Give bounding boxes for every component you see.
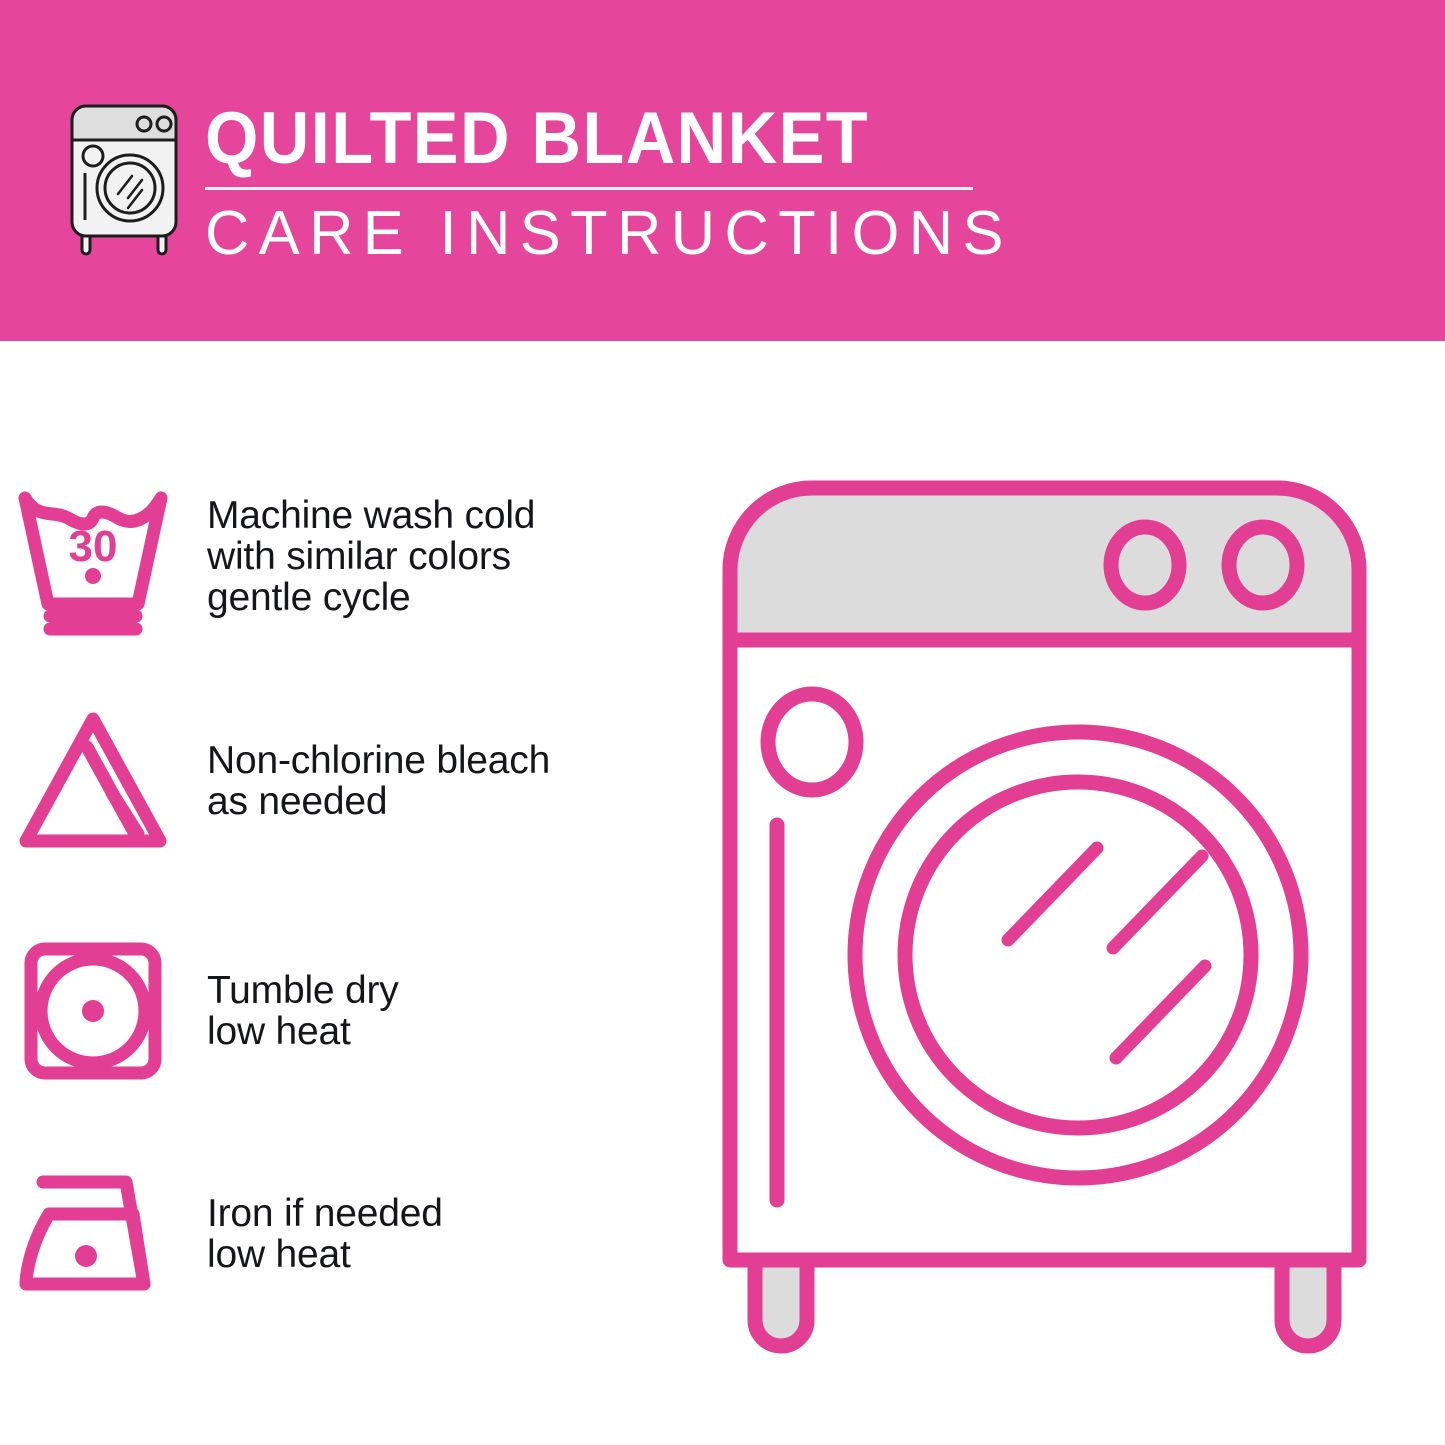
list-item-label: Machine wash cold with similar colors ge… (185, 495, 535, 618)
leg-left (755, 1260, 807, 1346)
list-item: 30 Machine wash cold with similar colors… (0, 466, 700, 646)
instruction-list: 30 Machine wash cold with similar colors… (0, 341, 700, 1445)
list-item-label: Non-chlorine bleach as needed (185, 740, 550, 822)
list-item: Tumble dry low heat (0, 921, 700, 1101)
washing-machine-icon (58, 98, 190, 258)
page-title: QUILTED BLANKET (205, 100, 948, 178)
header-title-block: QUILTED BLANKET CARE INSTRUCTIONS (205, 100, 995, 268)
list-item-label: Iron if needed low heat (185, 1193, 443, 1275)
front-load-washing-machine-illustration (712, 470, 1412, 1370)
wash-tub-30-icon: 30 (0, 476, 185, 636)
list-item: Non-chlorine bleach as needed (0, 693, 700, 868)
leg-right (1282, 1260, 1334, 1346)
bleach-triangle-icon (0, 701, 185, 861)
care-instructions-page: QUILTED BLANKET CARE INSTRUCTIONS 30 (0, 0, 1445, 1445)
list-item: Iron if needed low heat (0, 1146, 700, 1321)
page-subtitle: CARE INSTRUCTIONS (205, 200, 987, 268)
list-item-label: Tumble dry low heat (185, 970, 399, 1052)
title-divider (205, 187, 973, 190)
header-band: QUILTED BLANKET CARE INSTRUCTIONS (0, 0, 1445, 341)
tumble-dry-icon (0, 931, 185, 1091)
iron-icon (0, 1154, 185, 1314)
wash-temperature-label: 30 (68, 522, 117, 571)
